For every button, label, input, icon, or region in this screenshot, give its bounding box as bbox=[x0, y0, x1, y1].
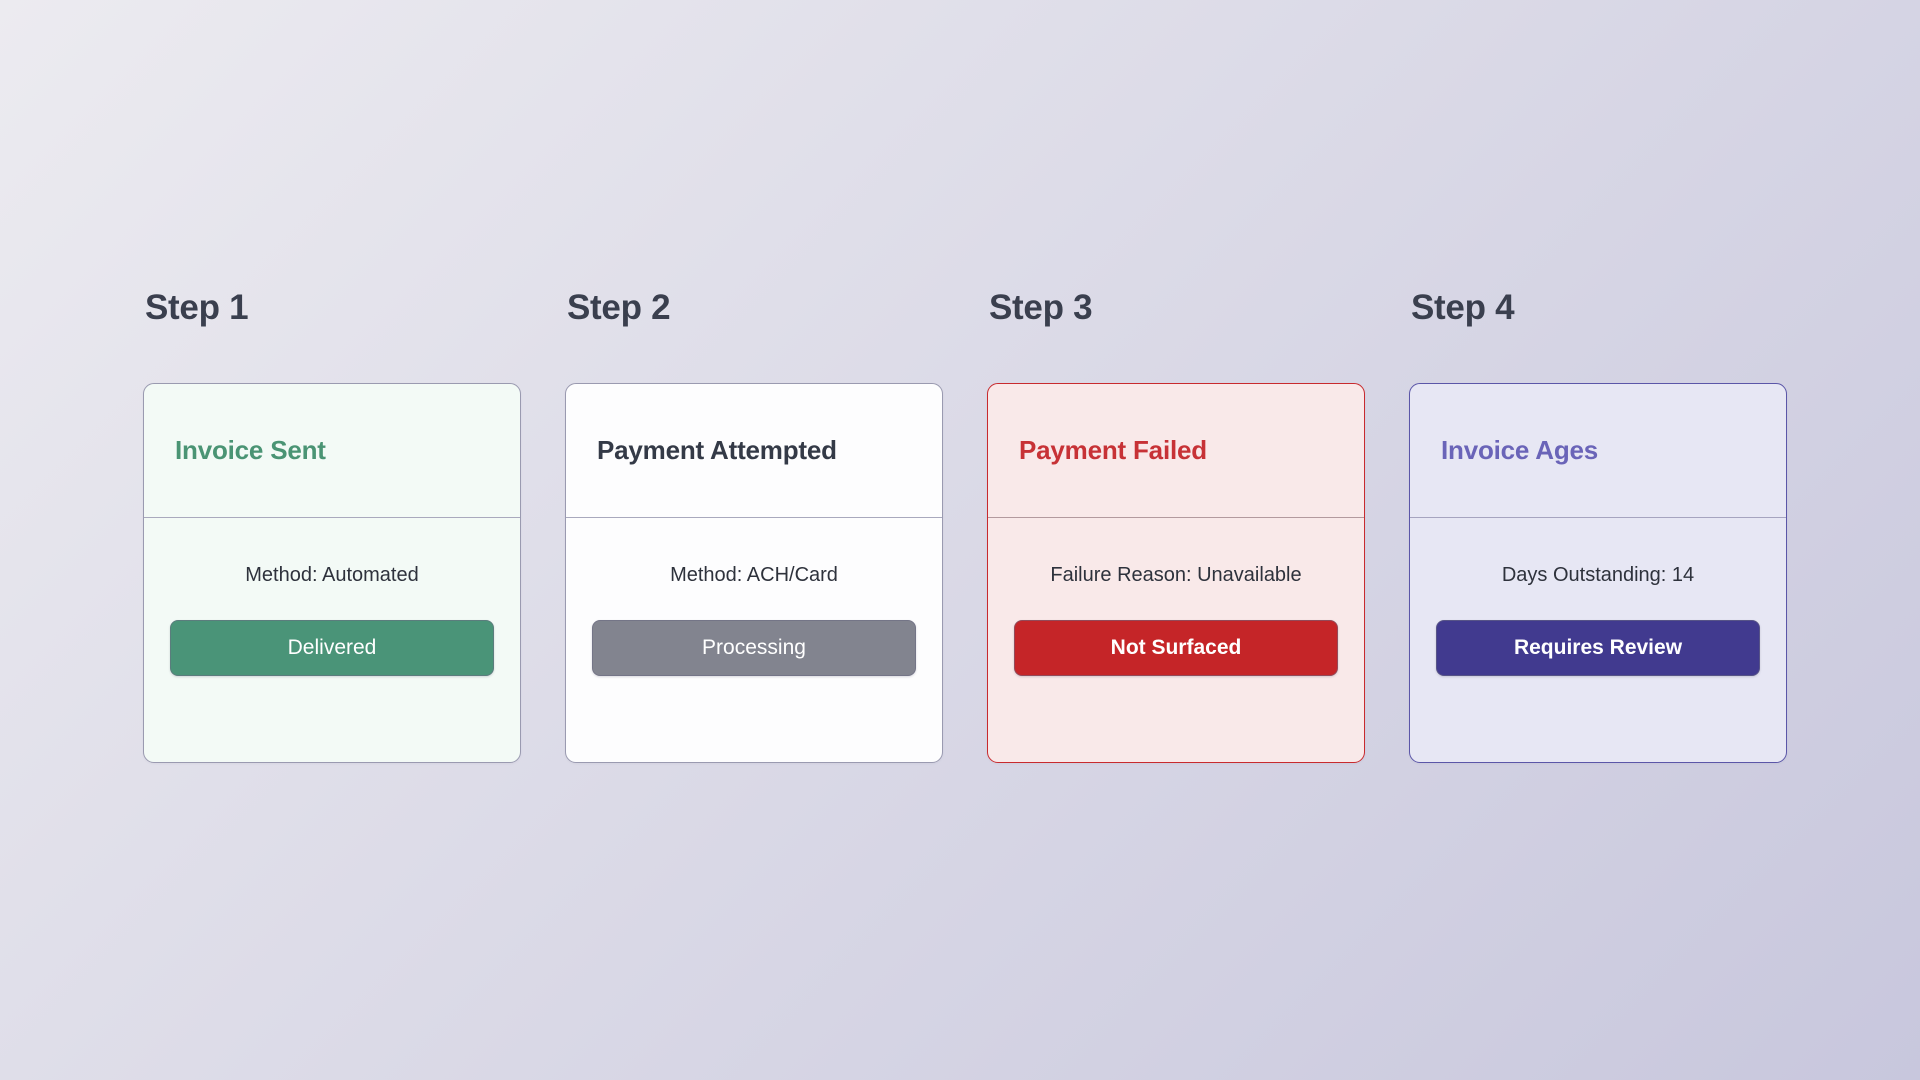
step-heading-2: Step 2 bbox=[567, 290, 943, 326]
status-card-4[interactable]: Invoice Ages Days Outstanding: 14 Requir… bbox=[1409, 383, 1787, 763]
card-detail-1: Method: Automated bbox=[245, 563, 418, 587]
card-header-3: Payment Failed bbox=[988, 384, 1364, 518]
card-title-2: Payment Attempted bbox=[597, 436, 837, 466]
card-body-4: Days Outstanding: 14 Requires Review bbox=[1410, 518, 1786, 762]
card-title-1: Invoice Sent bbox=[175, 436, 326, 466]
status-card-1[interactable]: Invoice Sent Method: Automated Delivered bbox=[143, 383, 521, 763]
step-column-2: Step 2 Payment Attempted Method: ACH/Car… bbox=[565, 290, 943, 763]
card-title-4: Invoice Ages bbox=[1441, 436, 1598, 466]
card-header-4: Invoice Ages bbox=[1410, 384, 1786, 518]
card-body-2: Method: ACH/Card Processing bbox=[566, 518, 942, 762]
card-detail-2: Method: ACH/Card bbox=[670, 563, 838, 587]
page-canvas: Step 1 Invoice Sent Method: Automated De… bbox=[0, 0, 1920, 1080]
status-button-2[interactable]: Processing bbox=[592, 620, 916, 676]
step-column-3: Step 3 Payment Failed Failure Reason: Un… bbox=[987, 290, 1365, 763]
step-column-1: Step 1 Invoice Sent Method: Automated De… bbox=[143, 290, 521, 763]
step-heading-4: Step 4 bbox=[1411, 290, 1787, 326]
steps-board: Step 1 Invoice Sent Method: Automated De… bbox=[143, 290, 1787, 763]
step-heading-3: Step 3 bbox=[989, 290, 1365, 326]
card-detail-4: Days Outstanding: 14 bbox=[1502, 563, 1694, 587]
status-button-1[interactable]: Delivered bbox=[170, 620, 494, 676]
status-card-3[interactable]: Payment Failed Failure Reason: Unavailab… bbox=[987, 383, 1365, 763]
step-heading-1: Step 1 bbox=[145, 290, 521, 326]
step-column-4: Step 4 Invoice Ages Days Outstanding: 14… bbox=[1409, 290, 1787, 763]
status-button-3[interactable]: Not Surfaced bbox=[1014, 620, 1338, 676]
status-button-4[interactable]: Requires Review bbox=[1436, 620, 1760, 676]
card-title-3: Payment Failed bbox=[1019, 436, 1207, 466]
card-header-1: Invoice Sent bbox=[144, 384, 520, 518]
status-card-2[interactable]: Payment Attempted Method: ACH/Card Proce… bbox=[565, 383, 943, 763]
card-body-1: Method: Automated Delivered bbox=[144, 518, 520, 762]
card-detail-3: Failure Reason: Unavailable bbox=[1050, 563, 1301, 587]
card-header-2: Payment Attempted bbox=[566, 384, 942, 518]
card-body-3: Failure Reason: Unavailable Not Surfaced bbox=[988, 518, 1364, 762]
